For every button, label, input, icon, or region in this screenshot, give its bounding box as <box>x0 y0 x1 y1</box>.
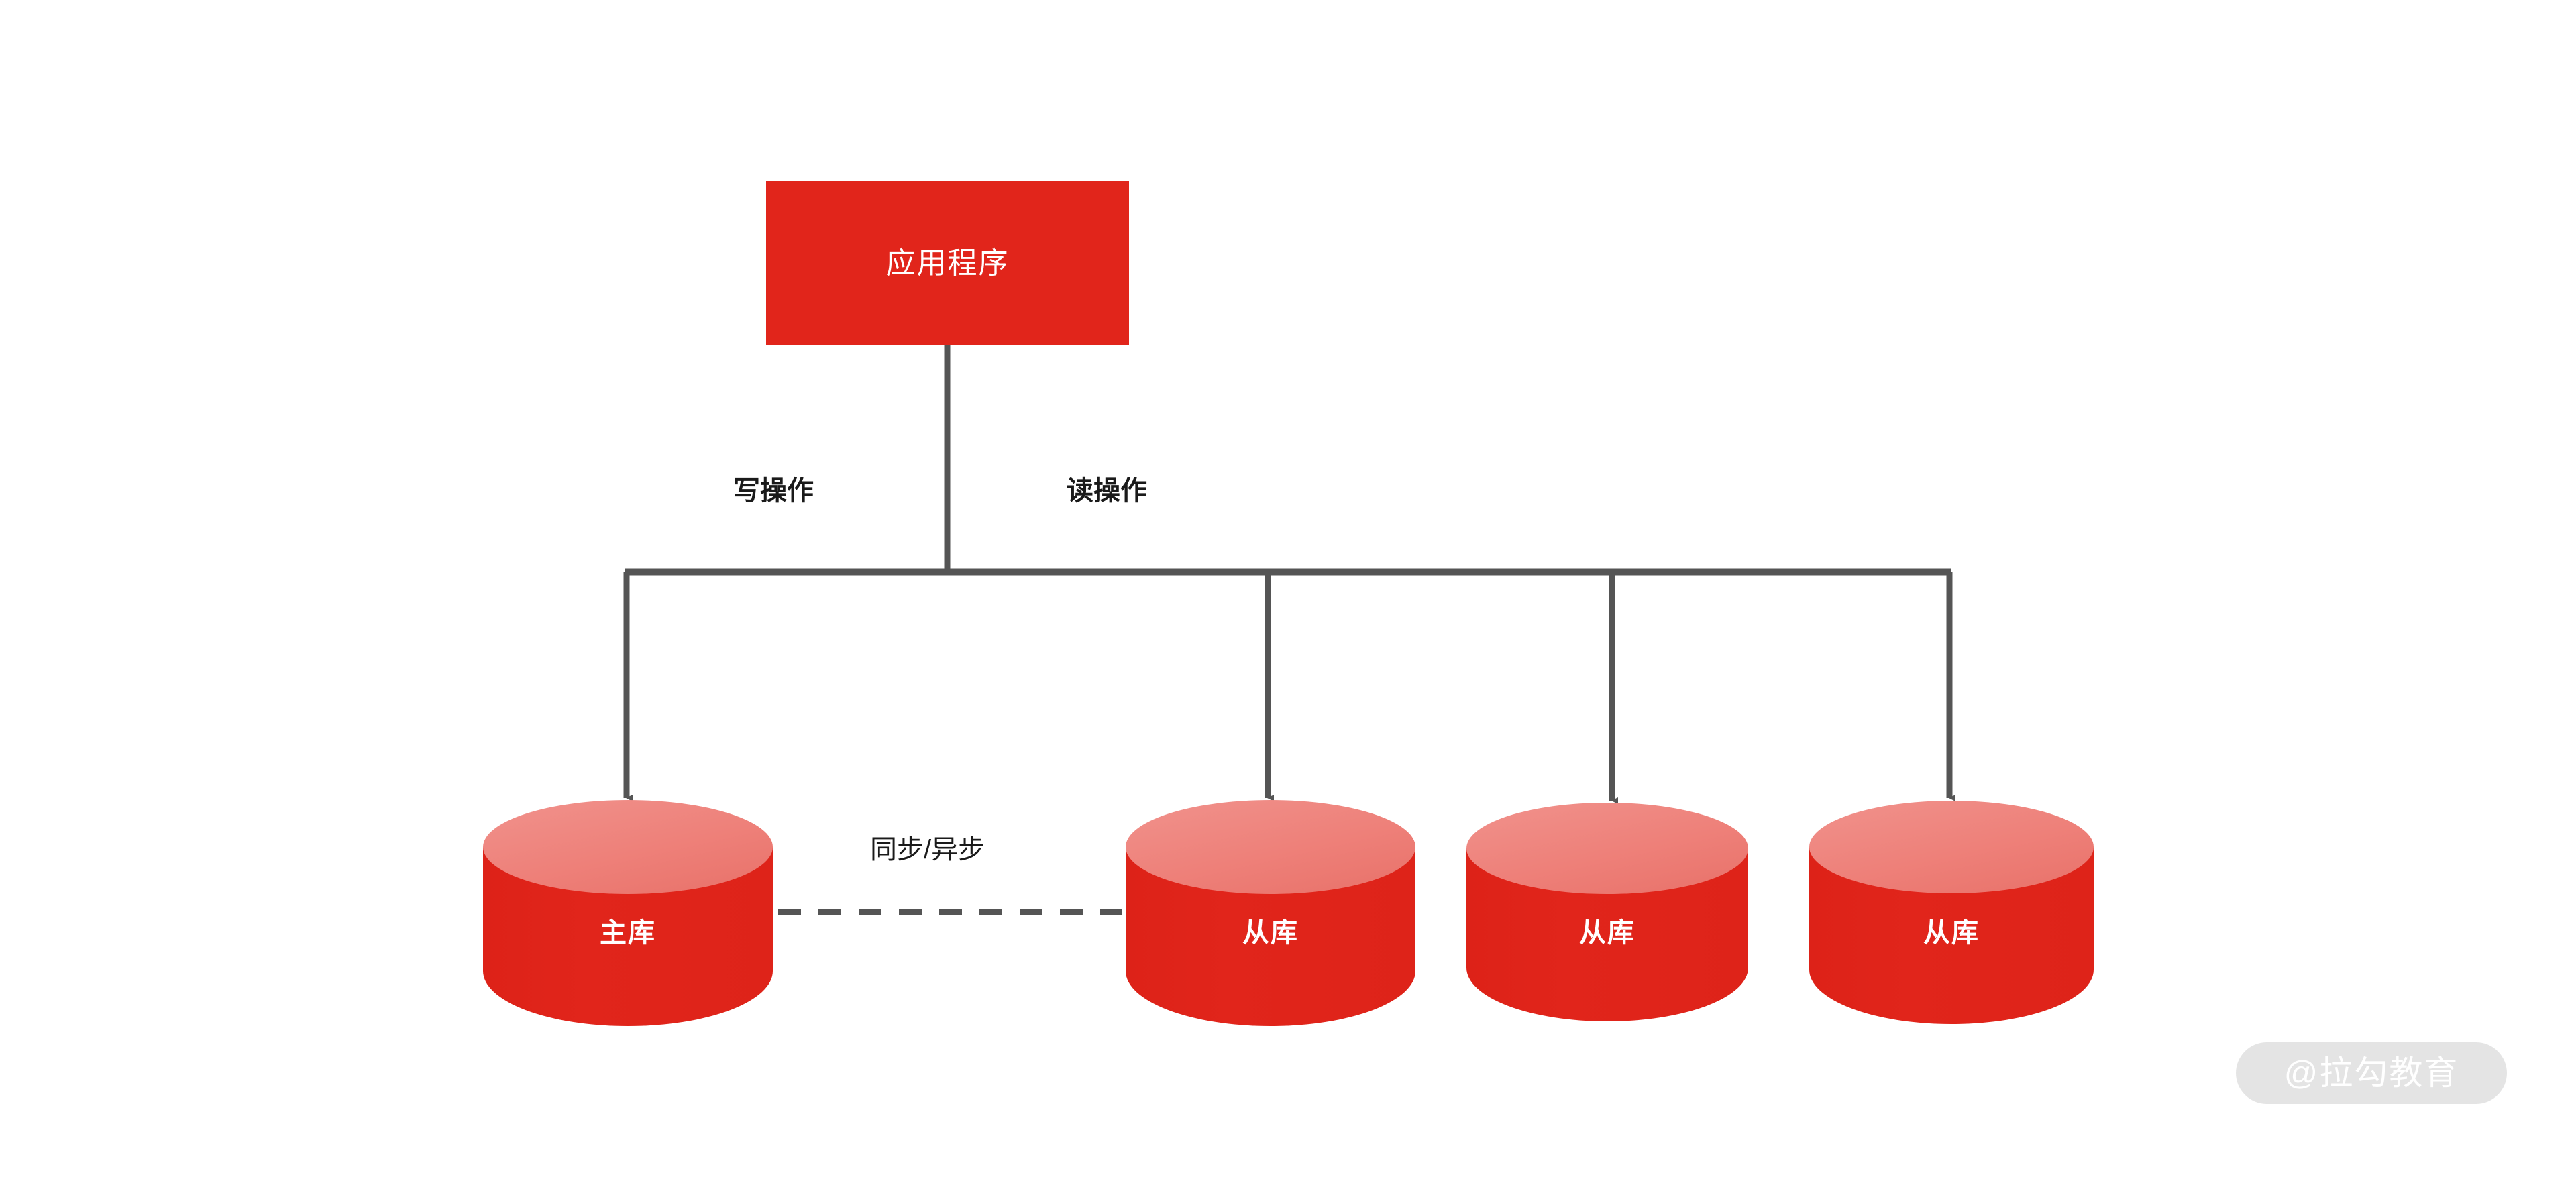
node-application[interactable]: 应用程序 <box>766 181 1129 345</box>
database-master-label: 主库 <box>483 919 773 946</box>
database-slave-3-label: 从库 <box>1809 919 2094 946</box>
database-slave-1-label: 从库 <box>1126 919 1415 946</box>
watermark-label: @拉勾教育 <box>2284 1056 2459 1090</box>
edge-label-write-operation: 写操作 <box>733 477 814 504</box>
node-application-label: 应用程序 <box>886 249 1010 278</box>
database-master[interactable]: 主库 <box>483 800 773 1028</box>
edge-label-replication-mode: 同步/异步 <box>870 836 985 863</box>
watermark-badge: @拉勾教育 <box>2236 1042 2507 1104</box>
edge-label-read-operation: 读操作 <box>1067 477 1147 504</box>
diagram-canvas: 应用程序 写操作 读操作 同步/异步 主库 从库 从库 从库 @拉勾教育 <box>0 0 2576 1181</box>
database-slave-2-label: 从库 <box>1466 919 1748 946</box>
database-slave-1[interactable]: 从库 <box>1126 800 1415 1028</box>
database-slave-3[interactable]: 从库 <box>1809 800 2094 1023</box>
database-slave-2[interactable]: 从库 <box>1466 803 1748 1023</box>
